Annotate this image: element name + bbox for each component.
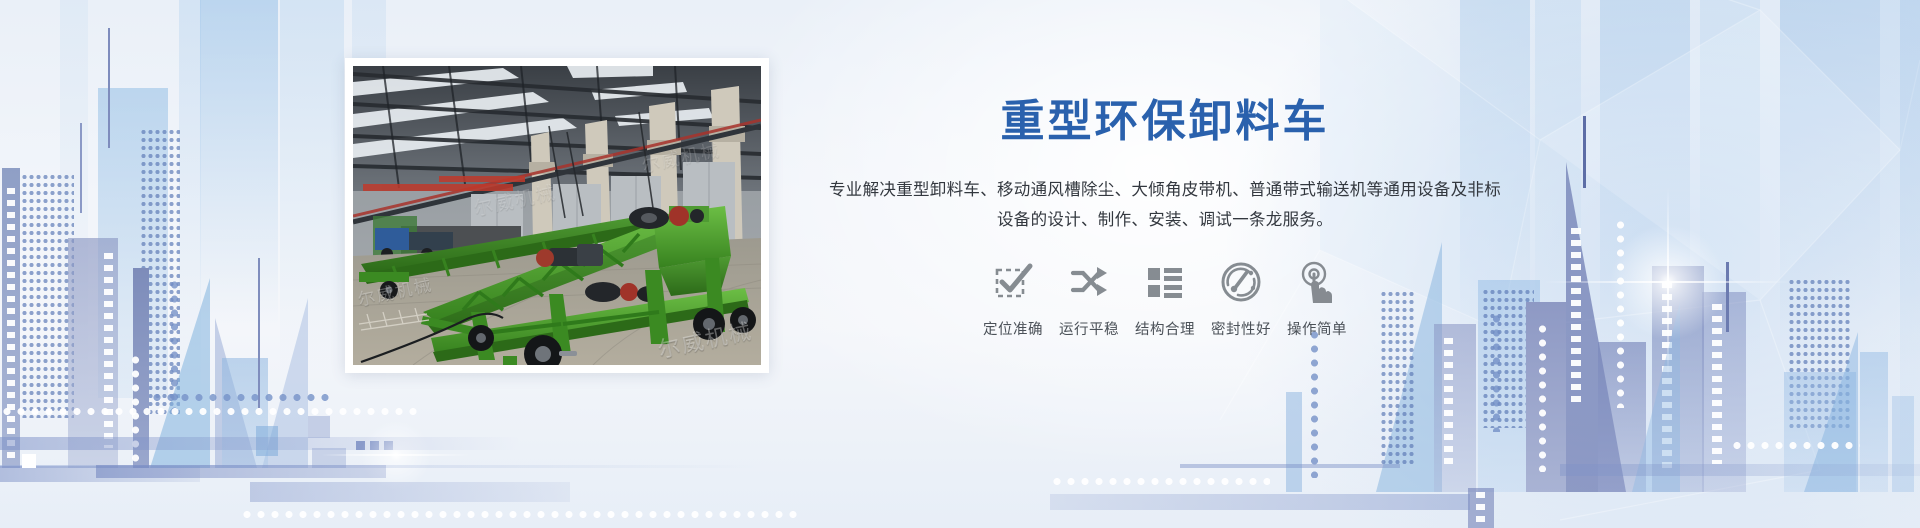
seal-gauge-icon — [1219, 260, 1263, 304]
feature-label: 运行平稳 — [1059, 318, 1119, 339]
dotted-rule — [1730, 441, 1860, 450]
feature-label: 密封性好 — [1211, 318, 1271, 339]
banner-content: 重型环保卸料车 专业解决重型卸料车、移动通风槽除尘、大倾角皮带机、普通带式输送机… — [815, 96, 1515, 339]
bottom-streak — [250, 482, 570, 502]
hero-banner: 尔威机械 尔威机械 尔威机械 尔威机械 重型环保卸料车 专业解决重型卸料车、移动… — [0, 0, 1920, 528]
feature-list: 定位准确 运行平稳 — [815, 260, 1515, 339]
feature-label: 结构合理 — [1135, 318, 1195, 339]
building-dot-column — [1310, 328, 1319, 478]
building — [1286, 392, 1302, 492]
banner-description: 专业解决重型卸料车、移动通风槽除尘、大倾角皮带机、普通带式输送机等通用设备及非标… — [815, 175, 1515, 236]
feature-label: 操作简单 — [1287, 318, 1347, 339]
page-title: 重型环保卸料车 — [815, 96, 1515, 149]
feature-label: 定位准确 — [983, 318, 1043, 339]
bottom-streak — [1180, 464, 1400, 468]
feature-item-structure[interactable]: 结构合理 — [1127, 260, 1203, 339]
product-photo: 尔威机械 尔威机械 尔威机械 尔威机械 — [353, 66, 761, 365]
building-facade-dots — [140, 128, 180, 418]
dotted-rule — [150, 393, 330, 402]
bottom-streak — [1900, 0, 1920, 528]
building-windows — [7, 188, 15, 458]
dotted-rule — [1050, 477, 1270, 486]
building — [2, 168, 20, 468]
bottom-streak — [1050, 494, 1470, 510]
dotted-rule — [240, 510, 800, 519]
lens-flare — [1583, 197, 1753, 367]
touch-hand-icon — [1295, 260, 1339, 304]
feature-item-positioning[interactable]: 定位准确 — [975, 260, 1051, 339]
accent-square — [22, 454, 36, 468]
building-windows — [1444, 338, 1453, 468]
bottom-streak — [1560, 464, 1920, 476]
antenna — [1583, 116, 1586, 188]
bg-column — [1535, 0, 1581, 528]
bottom-streak — [96, 465, 386, 478]
feature-item-easy-operation[interactable]: 操作简单 — [1279, 260, 1355, 339]
shuffle-arrows-icon — [1067, 260, 1111, 304]
feature-item-sealing[interactable]: 密封性好 — [1203, 260, 1279, 339]
check-box-icon — [991, 260, 1035, 304]
layout-blocks-icon — [1143, 260, 1187, 304]
bottom-streak — [0, 437, 520, 450]
building-windows — [104, 253, 113, 448]
antenna — [108, 28, 110, 148]
feature-item-smooth-operation[interactable]: 运行平稳 — [1051, 260, 1127, 339]
dotted-rule — [0, 407, 420, 416]
product-photo-frame: 尔威机械 尔威机械 尔威机械 尔威机械 — [345, 58, 769, 373]
building — [98, 88, 168, 398]
